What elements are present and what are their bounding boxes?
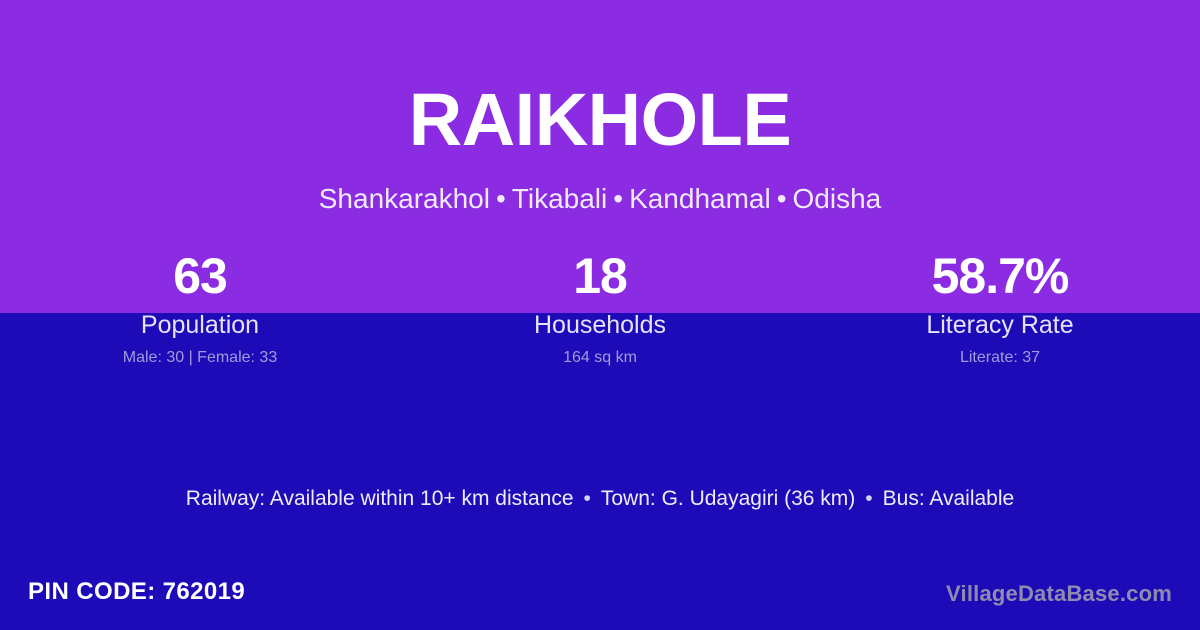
stat-literacy-value: 58.7% — [800, 245, 1200, 307]
stats-row: 63 Population Male: 30 | Female: 33 18 H… — [0, 245, 1200, 369]
stat-households: 18 Households 164 sq km — [400, 245, 800, 369]
stat-households-value: 18 — [400, 245, 800, 307]
stat-population-sub: Male: 30 | Female: 33 — [0, 347, 400, 369]
pin-code-label: PIN CODE: 762019 — [28, 577, 245, 607]
stat-population-value: 63 — [0, 245, 400, 307]
breadcrumb-item-panchayat: Shankarakhol — [319, 183, 490, 214]
stat-households-label: Households — [400, 310, 800, 341]
infra-item-bus: Bus: Available — [883, 487, 1015, 510]
infra-item-railway: Railway: Available within 10+ km distanc… — [186, 487, 574, 510]
stat-literacy: 58.7% Literacy Rate Literate: 37 — [800, 245, 1200, 369]
infra-separator-2: • — [855, 487, 882, 510]
site-brand-watermark: VillageDataBase.com — [946, 580, 1172, 608]
stat-households-sub: 164 sq km — [400, 347, 800, 369]
breadcrumb-item-district: Kandhamal — [629, 183, 771, 214]
breadcrumb: Shankarakhol•Tikabali•Kandhamal•Odisha — [0, 182, 1200, 216]
breadcrumb-separator-3: • — [771, 183, 793, 214]
breadcrumb-item-state: Odisha — [793, 183, 882, 214]
stat-population: 63 Population Male: 30 | Female: 33 — [0, 245, 400, 369]
stat-literacy-label: Literacy Rate — [800, 310, 1200, 341]
infra-item-town: Town: G. Udayagiri (36 km) — [601, 487, 855, 510]
stat-population-label: Population — [0, 310, 400, 341]
stat-literacy-sub: Literate: 37 — [800, 347, 1200, 369]
breadcrumb-item-block: Tikabali — [512, 183, 607, 214]
breadcrumb-separator-1: • — [490, 183, 512, 214]
infrastructure-summary: Railway: Available within 10+ km distanc… — [0, 484, 1200, 514]
page-title: RAIKHOLE — [0, 83, 1200, 157]
breadcrumb-separator-2: • — [607, 183, 629, 214]
village-info-card: RAIKHOLE Shankarakhol•Tikabali•Kandhamal… — [0, 0, 1200, 630]
infra-separator-1: • — [574, 487, 601, 510]
